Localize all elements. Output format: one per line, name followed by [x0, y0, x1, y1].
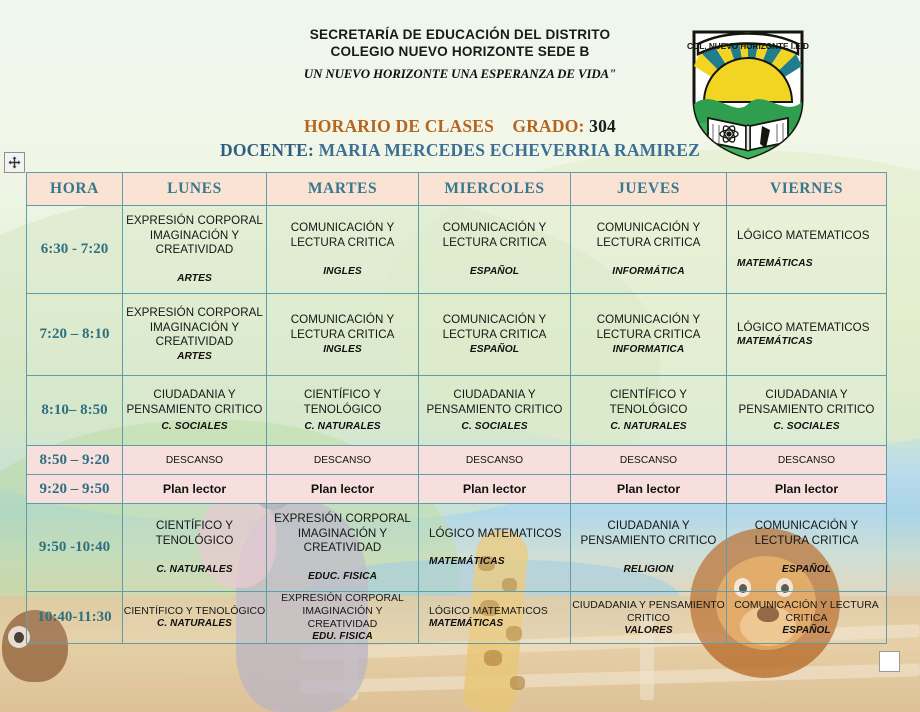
subject-area-label: RELIGION	[571, 563, 726, 576]
subject-name: COMUNICACIÓN Y LECTURA CRITICA	[419, 221, 570, 250]
table-resize-handle[interactable]	[879, 651, 900, 672]
schedule-cell: Plan lector	[727, 475, 887, 504]
school-shield-logo: COL. NUEVO HORIZONTE I.E.D	[686, 22, 810, 162]
subject-area-label: INFORMÁTICA	[571, 265, 726, 278]
grado-value: 304	[589, 116, 616, 136]
schedule-cell: EXPRESIÓN CORPORAL IMAGINACIÓN Y CREATIV…	[123, 294, 267, 376]
docente-value: MARIA MERCEDES ECHEVERRIA RAMIREZ	[319, 140, 700, 160]
schedule-cell: CIENTÍFICO Y TENOLÓGICOC. NATURALES	[571, 376, 727, 446]
schedule-cell: LÓGICO MATEMATICOSMATEMÁTICAS	[727, 294, 887, 376]
column-header-jueves: JUEVES	[571, 173, 727, 206]
subject-area-label: ESPAÑOL	[727, 563, 886, 576]
schedule-cell: CIENTÍFICO Y TENOLÓGICOC. NATURALES	[123, 504, 267, 592]
subject-area-label: MATEMÁTICAS	[429, 555, 570, 568]
docente-label: DOCENTE:	[220, 140, 314, 160]
subject-name: COMUNICACIÓN Y LECTURA CRITICA	[727, 519, 886, 548]
schedule-cell: COMUNICACIÓN Y LECTURA CRITICAESPAÑOL	[419, 206, 571, 294]
schedule-cell: Plan lector	[419, 475, 571, 504]
schedule-cell: Plan lector	[123, 475, 267, 504]
time-slot-cell: 9:50 -10:40	[27, 504, 123, 592]
schedule-cell: LÓGICO MATEMATICOSMATEMÁTICAS	[727, 206, 887, 294]
table-move-handle[interactable]	[4, 152, 25, 173]
plan-lector-label: Plan lector	[267, 482, 418, 496]
bird-pupil-icon	[14, 632, 24, 643]
subject-area-label: EDUC. FISICA	[267, 570, 418, 583]
subject-area-label: ARTES	[123, 350, 266, 363]
subject-name: LÓGICO MATEMATICOS	[737, 321, 886, 336]
subject-area-label: C. SOCIALES	[123, 420, 266, 433]
schedule-cell: COMUNICACIÓN Y LECTURA CRITICAINFORMATIC…	[571, 294, 727, 376]
schedule-cell: EXPRESIÓN CORPORAL IMAGINACIÓN Y CREATIV…	[267, 592, 419, 644]
schedule-cell: COMUNICACIÓN Y LECTURA CRITICAESPAÑOL	[727, 504, 887, 592]
subject-name: CIENTÍFICO Y TENOLÓGICO	[571, 388, 726, 417]
table-row: 7:20 – 8:10EXPRESIÓN CORPORAL IMAGINACIÓ…	[27, 294, 887, 376]
schedule-cell: COMUNICACIÓN Y LECTURA CRITICAINFORMÁTIC…	[571, 206, 727, 294]
time-slot-cell: 6:30 - 7:20	[27, 206, 123, 294]
grado-label: GRADO:	[512, 116, 584, 136]
subject-area-label: C. SOCIALES	[727, 420, 886, 433]
subject-name: LÓGICO MATEMATICOS	[429, 605, 570, 618]
schedule-cell: DESCANSO	[419, 446, 571, 475]
schedule-cell: CIUDADANIA Y PENSAMIENTO CRITICORELIGION	[571, 504, 727, 592]
subject-area-label: EDU. FISICA	[267, 631, 418, 643]
schedule-cell: DESCANSO	[123, 446, 267, 475]
descanso-label: DESCANSO	[123, 455, 266, 466]
fence-rail-icon	[300, 663, 920, 693]
schedule-cell: CIENTÍFICO Y TENOLÓGICOC. NATURALES	[267, 376, 419, 446]
subject-area-label: INFORMATICA	[571, 343, 726, 356]
table-row: 10:40-11:30CIENTÍFICO Y TENOLÓGICOC. NAT…	[27, 592, 887, 644]
subject-name: EXPRESIÓN CORPORAL IMAGINACIÓN Y CREATIV…	[267, 592, 418, 631]
subject-area-label: C. NATURALES	[267, 420, 418, 433]
table-header-row: HORA LUNES MARTES MIERCOLES JUEVES VIERN…	[27, 173, 887, 206]
subject-area-label: C. NATURALES	[123, 563, 266, 576]
subject-name: CIENTÍFICO Y TENOLÓGICO	[123, 519, 266, 548]
plan-lector-label: Plan lector	[419, 482, 570, 496]
plan-lector-label: Plan lector	[571, 482, 726, 496]
table-row: 8:10– 8:50CIUDADANIA Y PENSAMIENTO CRITI…	[27, 376, 887, 446]
subject-area-label: ARTES	[123, 272, 266, 285]
schedule-cell: Plan lector	[267, 475, 419, 504]
subject-area-label: C. NATURALES	[123, 618, 266, 630]
subject-name: COMUNICACIÓN Y LECTURA CRITICA	[571, 313, 726, 342]
descanso-label: DESCANSO	[571, 455, 726, 466]
column-header-hora: HORA	[27, 173, 123, 206]
time-slot-cell: 7:20 – 8:10	[27, 294, 123, 376]
schedule-cell: COMUNICACIÓN Y LECTURA CRITICAINGLES	[267, 206, 419, 294]
descanso-label: DESCANSO	[267, 455, 418, 466]
schedule-cell: CIENTÍFICO Y TENOLÓGICOC. NATURALES	[123, 592, 267, 644]
horario-label: HORARIO DE CLASES	[304, 116, 494, 136]
schedule-cell: DESCANSO	[267, 446, 419, 475]
subject-name: CIUDADANIA Y PENSAMIENTO CRITICO	[419, 388, 570, 417]
schedule-cell: CIUDADANIA Y PENSAMIENTO CRITICOC. SOCIA…	[419, 376, 571, 446]
subject-name: COMUNICACIÓN Y LECTURA CRITICA	[571, 221, 726, 250]
subject-name: COMUNICACIÓN Y LECTURA CRITICA	[267, 221, 418, 250]
schedule-cell: CIUDADANIA Y PENSAMIENTO CRITICOC. SOCIA…	[123, 376, 267, 446]
subject-name: COMUNICACIÓN Y LECTURA CRITICA	[727, 599, 886, 625]
schedule-cell: COMUNICACIÓN Y LECTURA CRITICAESPAÑOL	[419, 294, 571, 376]
subject-name: COMUNICACIÓN Y LECTURA CRITICA	[267, 313, 418, 342]
descanso-label: DESCANSO	[419, 455, 570, 466]
subject-area-label: ESPAÑOL	[727, 625, 886, 637]
table-row: 9:20 – 9:50Plan lectorPlan lectorPlan le…	[27, 475, 887, 504]
schedule-cell: LÓGICO MATEMATICOSMATEMÁTICAS	[419, 592, 571, 644]
schedule-body: 6:30 - 7:20EXPRESIÓN CORPORAL IMAGINACIÓ…	[27, 206, 887, 644]
time-slot-cell: 10:40-11:30	[27, 592, 123, 644]
subject-area-label: ESPAÑOL	[419, 265, 570, 278]
subject-name: EXPRESIÓN CORPORAL IMAGINACIÓN Y CREATIV…	[123, 214, 266, 258]
schedule-cell: DESCANSO	[727, 446, 887, 475]
subject-name: CIUDADANIA Y PENSAMIENTO CRITICO	[571, 599, 726, 625]
schedule-cell: Plan lector	[571, 475, 727, 504]
schedule-cell: CIUDADANIA Y PENSAMIENTO CRITICOVALORES	[571, 592, 727, 644]
giraffe-spot-icon	[510, 676, 525, 690]
class-schedule-table: HORA LUNES MARTES MIERCOLES JUEVES VIERN…	[26, 172, 887, 644]
time-slot-cell: 8:10– 8:50	[27, 376, 123, 446]
subject-area-label: VALORES	[571, 625, 726, 637]
subject-name: COMUNICACIÓN Y LECTURA CRITICA	[419, 313, 570, 342]
subject-area-label: MATEMÁTICAS	[737, 335, 886, 348]
subject-name: CIUDADANIA Y PENSAMIENTO CRITICO	[123, 388, 266, 417]
schedule-cell: LÓGICO MATEMATICOSMATEMÁTICAS	[419, 504, 571, 592]
schedule-cell: EXPRESIÓN CORPORAL IMAGINACIÓN Y CREATIV…	[123, 206, 267, 294]
table-row: 6:30 - 7:20EXPRESIÓN CORPORAL IMAGINACIÓ…	[27, 206, 887, 294]
subject-name: CIENTÍFICO Y TENOLÓGICO	[123, 605, 266, 618]
schedule-cell: DESCANSO	[571, 446, 727, 475]
subject-name: CIUDADANIA Y PENSAMIENTO CRITICO	[727, 388, 886, 417]
subject-area-label: C. NATURALES	[571, 420, 726, 433]
subject-name: LÓGICO MATEMATICOS	[429, 527, 570, 542]
column-header-lunes: LUNES	[123, 173, 267, 206]
subject-area-label: INGLES	[267, 265, 418, 278]
giraffe-spot-icon	[484, 650, 502, 666]
subject-name: LÓGICO MATEMATICOS	[737, 229, 886, 244]
table-row: 9:50 -10:40CIENTÍFICO Y TENOLÓGICOC. NAT…	[27, 504, 887, 592]
subject-area-label: MATEMÁTICAS	[429, 618, 570, 630]
subject-area-label: ESPAÑOL	[419, 343, 570, 356]
schedule-cell: COMUNICACIÓN Y LECTURA CRITICAINGLES	[267, 294, 419, 376]
move-four-arrows-icon	[8, 156, 21, 169]
subject-area-label: INGLES	[267, 343, 418, 356]
document-page: SECRETARÍA DE EDUCACIÓN DEL DISTRITO COL…	[0, 0, 920, 712]
subject-name: CIENTÍFICO Y TENOLÓGICO	[267, 388, 418, 417]
plan-lector-label: Plan lector	[123, 482, 266, 496]
shield-banner-text: COL. NUEVO HORIZONTE I.E.D	[687, 42, 809, 51]
subject-area-label: MATEMÁTICAS	[737, 257, 886, 270]
column-header-viernes: VIERNES	[727, 173, 887, 206]
time-slot-cell: 8:50 – 9:20	[27, 446, 123, 475]
column-header-miercoles: MIERCOLES	[419, 173, 571, 206]
schedule-cell: CIUDADANIA Y PENSAMIENTO CRITICOC. SOCIA…	[727, 376, 887, 446]
column-header-martes: MARTES	[267, 173, 419, 206]
subject-name: CIUDADANIA Y PENSAMIENTO CRITICO	[571, 519, 726, 548]
time-slot-cell: 9:20 – 9:50	[27, 475, 123, 504]
descanso-label: DESCANSO	[727, 455, 886, 466]
subject-name: EXPRESIÓN CORPORAL IMAGINACIÓN Y CREATIV…	[267, 512, 418, 556]
schedule-cell: COMUNICACIÓN Y LECTURA CRITICAESPAÑOL	[727, 592, 887, 644]
subject-name: EXPRESIÓN CORPORAL IMAGINACIÓN Y CREATIV…	[123, 306, 266, 350]
table-row: 8:50 – 9:20DESCANSODESCANSODESCANSODESCA…	[27, 446, 887, 475]
subject-area-label: C. SOCIALES	[419, 420, 570, 433]
schedule-cell: EXPRESIÓN CORPORAL IMAGINACIÓN Y CREATIV…	[267, 504, 419, 592]
plan-lector-label: Plan lector	[727, 482, 886, 496]
